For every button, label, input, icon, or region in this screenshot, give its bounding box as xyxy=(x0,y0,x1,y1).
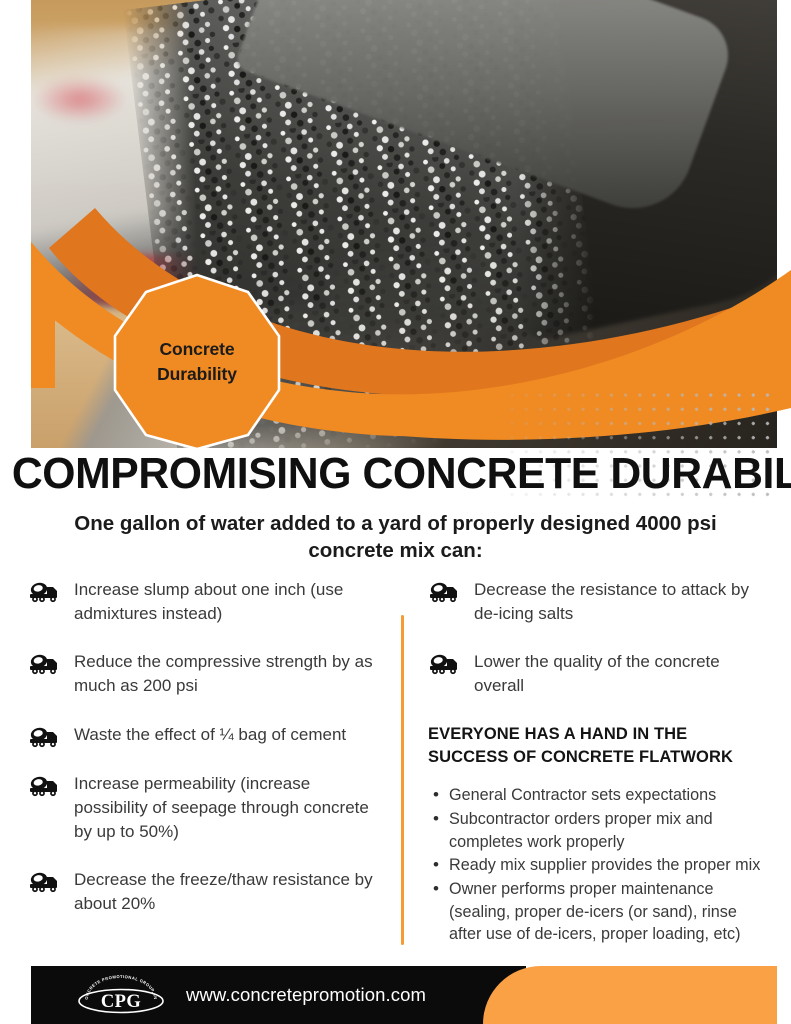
list-item: Reduce the compressive strength by as mu… xyxy=(28,650,380,698)
footer-content: CONCRETE PROMOTIONAL GROUP, INC CPG www.… xyxy=(31,966,526,1024)
concrete-durability-badge: Concrete Durability xyxy=(107,272,287,452)
list-item: Waste the effect of ¼ bag of cement xyxy=(28,723,380,748)
mixer-truck-icon xyxy=(28,871,60,893)
badge-text: Concrete Durability xyxy=(107,272,287,452)
mixer-truck-icon xyxy=(28,775,60,797)
list-item: Ready mix supplier provides the proper m… xyxy=(428,854,766,877)
column-divider xyxy=(401,615,404,945)
mixer-truck-icon xyxy=(428,581,460,603)
list-item: Subcontractor orders proper mix and comp… xyxy=(428,808,766,853)
footer: CONCRETE PROMOTIONAL GROUP, INC CPG www.… xyxy=(31,966,777,1024)
mixer-truck-icon xyxy=(28,581,60,603)
infographic-page: Concrete Durability COMPROMISING CONCRET… xyxy=(0,0,791,1024)
list-item-text: Reduce the compressive strength by as mu… xyxy=(74,650,380,698)
mixer-truck-icon xyxy=(28,653,60,675)
list-item: General Contractor sets expectations xyxy=(428,784,766,807)
list-item: Increase slump about one inch (use admix… xyxy=(28,578,380,626)
list-item: Decrease the freeze/thaw resistance by a… xyxy=(28,868,380,916)
page-subtitle: One gallon of water added to a yard of p… xyxy=(0,510,791,564)
list-item-text: Increase slump about one inch (use admix… xyxy=(74,578,380,626)
footer-website-url[interactable]: www.concretepromotion.com xyxy=(186,984,426,1006)
content-columns: Increase slump about one inch (use admix… xyxy=(0,578,791,954)
right-column: Decrease the resistance to attack by de-… xyxy=(428,578,766,947)
cta-heading: EVERYONE HAS A HAND IN THE SUCCESS OF CO… xyxy=(428,723,766,771)
mixer-truck-icon xyxy=(28,726,60,748)
cpg-logo[interactable]: CONCRETE PROMOTIONAL GROUP, INC CPG xyxy=(74,975,168,1015)
left-column: Increase slump about one inch (use admix… xyxy=(28,578,380,940)
title-block: COMPROMISING CONCRETE DURABILITY One gal… xyxy=(0,452,791,564)
svg-text:CPG: CPG xyxy=(101,992,141,1012)
role-list: General Contractor sets expectations Sub… xyxy=(428,784,766,946)
list-item-text: Lower the quality of the concrete overal… xyxy=(474,650,766,698)
mixer-truck-icon xyxy=(428,653,460,675)
badge-line-2: Durability xyxy=(157,362,237,387)
list-item: Decrease the resistance to attack by de-… xyxy=(428,578,766,626)
footer-orange-shape xyxy=(483,966,777,1024)
list-item: Owner performs proper maintenance (seali… xyxy=(428,878,766,946)
list-item: Lower the quality of the concrete overal… xyxy=(428,650,766,698)
list-item: Increase permeability (increase possibil… xyxy=(28,772,380,844)
list-item-text: Waste the effect of ¼ bag of cement xyxy=(74,723,346,747)
list-item-text: Decrease the resistance to attack by de-… xyxy=(474,578,766,626)
badge-line-1: Concrete xyxy=(159,337,234,362)
page-title: COMPROMISING CONCRETE DURABILITY xyxy=(12,452,779,496)
list-item-text: Increase permeability (increase possibil… xyxy=(74,772,380,844)
list-item-text: Decrease the freeze/thaw resistance by a… xyxy=(74,868,380,916)
